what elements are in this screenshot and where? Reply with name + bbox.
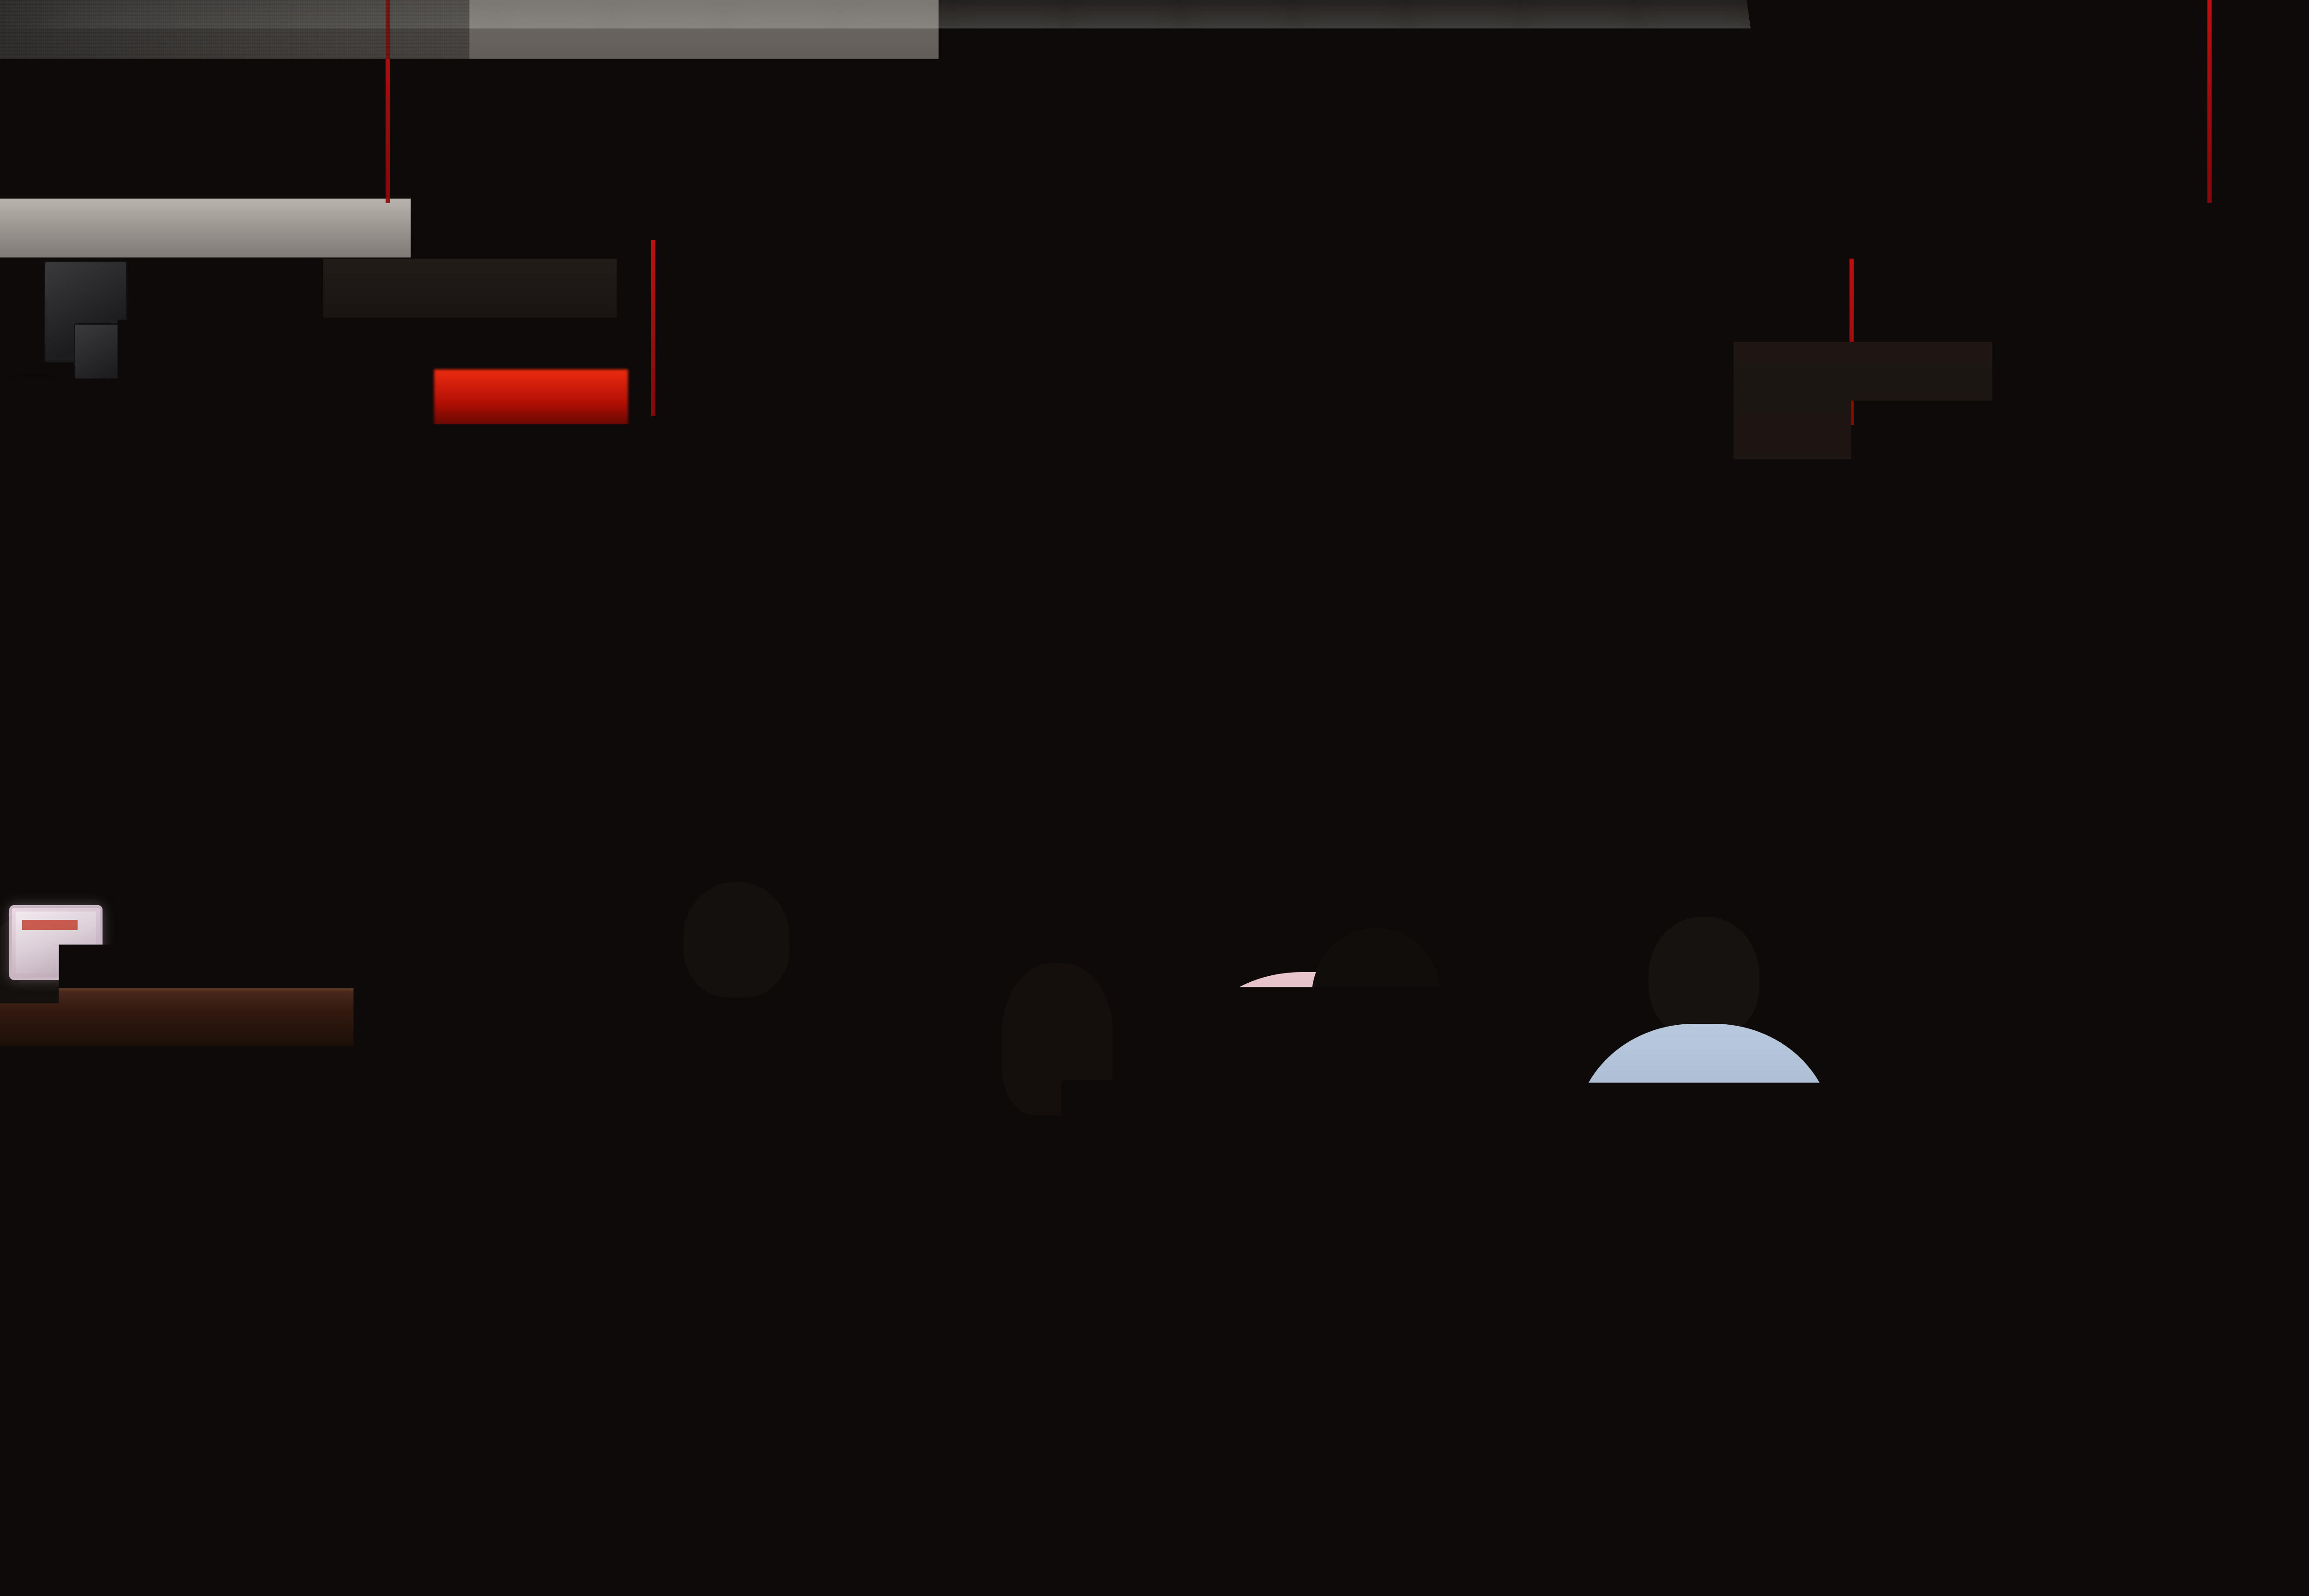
slide-row-1-rule [1073, 651, 1382, 652]
video-call-lamp-icon [1566, 512, 1578, 518]
video-call-avatar-icon [1500, 495, 1505, 500]
name-plate-3 [1482, 886, 1536, 917]
tablet-device[interactable] [9, 905, 103, 980]
led-glow-left [434, 369, 628, 429]
slide-row-1-text: 新时代城市基层治理的战略要求 [1109, 605, 1400, 633]
video-call-mic-icon[interactable] [1499, 541, 1504, 548]
lectern-indicator-lights [489, 811, 544, 818]
slide-row-2-number: 2 [1047, 687, 1092, 738]
water-bottle-cap-1 [892, 872, 906, 882]
slide-row-2-text: 新时代城市基层治理的新探索 [1109, 695, 1379, 723]
door-knob-left [456, 790, 466, 800]
screen-corner-tag: 2023 [891, 490, 908, 499]
desk-near-right [1686, 1233, 2309, 1351]
slide-row-2-dot [1380, 738, 1385, 743]
water-bottle-cap-2 [1192, 883, 1206, 893]
water-bottle-cap-near-1 [658, 1234, 680, 1250]
presentation-slide: 提 纲 1 新时代城市基层治理的战略要求 2 新时代城市基层治理的新探索 3 新… [957, 464, 1521, 866]
slide-row-3-text: 新时代城市基层治理的未来方案 [1109, 759, 1400, 787]
slide-row-3-number: 3 [1047, 752, 1092, 803]
thermos-cup-mid [1672, 1048, 1711, 1108]
video-call-window[interactable]: 远程连线 wd516 [1495, 490, 1616, 551]
laptop-right[interactable] [2244, 972, 2309, 1064]
chair-near-4[interactable] [2004, 1445, 2309, 1596]
lectern-led-2 [500, 812, 508, 818]
plant-frond [1640, 656, 1761, 689]
video-call-titlebar: 远程连线 wd516 [1496, 491, 1615, 503]
water-bottle-cap-mid-2 [1185, 1001, 1199, 1011]
slide-title: 提 纲 [957, 486, 1521, 536]
chair-near-2[interactable] [605, 1466, 1150, 1596]
slide-title-divider [993, 542, 1485, 543]
chair-mid-2[interactable] [1141, 1083, 1261, 1171]
lectern-led-3 [511, 812, 519, 818]
led-banner-board: 热烈欢迎 "双一流" 高校专家莅临指导交流 [619, 365, 1926, 445]
led-glow-right [1930, 369, 2124, 429]
video-call-lamp-icon-2 [1592, 510, 1604, 516]
chair-near-3[interactable] [1358, 1459, 1930, 1596]
door-knob-right [1933, 790, 1943, 800]
water-bottle-mid-2 [1185, 1009, 1200, 1064]
water-bottle-near-1 [656, 1247, 682, 1353]
red-ribbon-1 [386, 0, 390, 203]
hood [222, 1196, 439, 1395]
desk-near-left [0, 1182, 240, 1305]
head [2134, 822, 2249, 946]
raised-arm-photographer [62, 951, 113, 1145]
conference-camera-lens-icon [1234, 866, 1256, 889]
head [1649, 917, 1759, 1038]
projector-lens-icon [1228, 319, 1254, 345]
emergency-exit-icon [9, 397, 55, 426]
exit-glyph [19, 402, 46, 421]
lectern-led-1 [489, 812, 497, 818]
lectern-led-4 [522, 812, 530, 818]
red-ribbon-4 [2207, 0, 2212, 203]
slide-row-2-rule [1073, 741, 1382, 742]
water-bottle-desk-3 [1579, 890, 1595, 941]
plant-frond [604, 674, 648, 768]
potted-plant-right [1644, 586, 1930, 937]
thermos-cup-near [1094, 1233, 1152, 1325]
head [499, 891, 623, 1030]
tablet-screen-content-bar [22, 920, 78, 930]
potted-plant-left [545, 568, 804, 891]
chair-near-1[interactable] [5, 1459, 411, 1596]
video-call-feed [1496, 503, 1615, 550]
projector-mount-pole [1194, 99, 1209, 316]
screen-bottom-tag: 学术报告会 [880, 838, 921, 850]
slide-row-1-dot [1380, 648, 1385, 653]
slide-row-1: 1 新时代城市基层治理的战略要求 [957, 593, 1521, 672]
slide-row-3-dot [1380, 803, 1385, 808]
slide-row-1-number: 1 [1047, 597, 1092, 648]
chair-mid-3[interactable] [1602, 1085, 1732, 1178]
slide-row-3-rule [1073, 805, 1382, 807]
microphone-head-icon [1265, 863, 1279, 878]
video-call-title: 远程连线 wd516 [1508, 494, 1545, 501]
wall-speaker-left-2 [74, 323, 139, 395]
plant-frond [627, 628, 747, 665]
water-bottle-cap-3 [1580, 883, 1594, 893]
slide-footer-band [957, 823, 1521, 866]
plant-frond [624, 648, 721, 737]
head [683, 882, 790, 997]
video-call-participant [1541, 514, 1570, 549]
led-banner-clip-mask [619, 366, 1926, 387]
lecture-hall-scene: 热烈欢迎 "双一流" 高校专家莅临指导交流 2023 学术报告会 提 纲 1 新… [0, 0, 2309, 1596]
water-bottle-desk-2 [1191, 890, 1207, 941]
ceiling-cove-light [37, 73, 2299, 206]
slide-row-3: 3 新时代城市基层治理的未来方案 [957, 748, 1521, 827]
